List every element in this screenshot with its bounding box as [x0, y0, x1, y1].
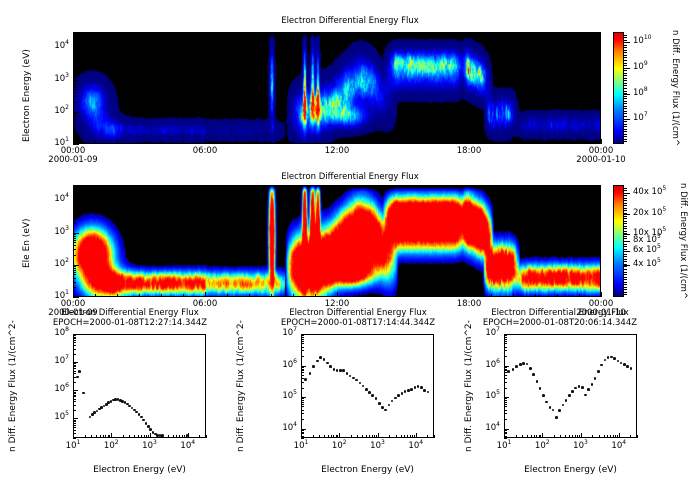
tick-minor: [73, 266, 76, 267]
tick-minor: [73, 191, 76, 192]
tick-label: 105: [33, 412, 69, 422]
data-point: [600, 364, 603, 367]
tick-minor: [73, 268, 76, 269]
data-point: [401, 392, 404, 395]
tick-major: [601, 292, 602, 297]
tick-minor: [366, 435, 367, 438]
tick-minor: [617, 435, 618, 438]
tick-minor: [624, 116, 627, 117]
data-point: [404, 390, 407, 393]
data-point: [604, 359, 607, 362]
data-point: [371, 394, 374, 397]
tick-minor: [535, 294, 536, 297]
tick-minor: [301, 375, 304, 376]
tick-minor: [73, 70, 76, 71]
tick-minor: [624, 68, 627, 69]
data-point: [326, 362, 329, 365]
tick-minor: [73, 49, 76, 50]
tick-minor: [301, 372, 304, 373]
data-point: [407, 389, 410, 392]
tick-minor: [624, 261, 627, 262]
data-point: [522, 362, 525, 365]
tick-major: [73, 433, 74, 438]
data-point: [352, 377, 355, 380]
tick-minor: [527, 435, 528, 438]
tick-minor: [73, 242, 76, 243]
tick-label: 18:00: [443, 146, 495, 156]
spectrum-1-title: Electron Differential Energy Flux: [30, 308, 230, 318]
tick-minor: [624, 63, 627, 64]
tick-minor: [148, 435, 149, 438]
tick-minor: [144, 435, 145, 438]
tick-minor: [624, 42, 627, 43]
colorbar-tick-label: 20x 105: [633, 208, 666, 218]
tick-minor: [301, 402, 304, 403]
tick-minor: [73, 363, 76, 364]
tick-minor: [624, 236, 627, 237]
colorbar-tick-label: 10x 105: [633, 228, 666, 238]
tick-minor: [73, 141, 74, 144]
tick-minor: [372, 435, 373, 438]
tick-date: 2000-01-10: [571, 155, 631, 165]
tick-minor: [624, 73, 627, 74]
tick-major: [601, 139, 602, 144]
tick-minor: [557, 141, 558, 144]
tick-minor: [504, 337, 507, 338]
data-point: [545, 401, 548, 404]
tick-minor: [414, 435, 415, 438]
middle-colorbar: [613, 185, 624, 297]
tick-minor: [117, 141, 118, 144]
tick-minor: [357, 435, 358, 438]
tick-minor: [624, 274, 627, 275]
tick-minor: [333, 435, 334, 438]
tick-minor: [403, 294, 404, 297]
tick-minor: [504, 367, 507, 368]
tick-minor: [73, 113, 76, 114]
tick-minor: [73, 255, 76, 256]
data-point: [630, 367, 633, 370]
tick-minor: [389, 435, 390, 438]
tick-major: [73, 144, 79, 145]
tick-minor: [579, 435, 580, 438]
data-point: [512, 368, 515, 371]
tick-minor: [554, 435, 555, 438]
tick-minor: [85, 435, 86, 438]
tick-major: [581, 433, 582, 438]
tick-minor: [624, 129, 627, 130]
tick-minor: [73, 87, 76, 88]
tick-date: 2000-01-09: [43, 155, 103, 165]
tick-minor: [624, 113, 627, 114]
tick-minor: [73, 282, 76, 283]
tick-minor: [301, 410, 304, 411]
tick-minor: [624, 221, 627, 222]
data-point: [610, 356, 613, 359]
data-point: [365, 388, 368, 391]
tick-minor: [624, 231, 627, 232]
tick-label: 102: [522, 441, 562, 451]
tick-minor: [301, 350, 304, 351]
data-point: [552, 409, 555, 412]
tick-minor: [301, 378, 304, 379]
data-point: [571, 390, 574, 393]
spectrum-1-y-label: n Diff. Energy Flux (1/(cm^2-: [8, 320, 18, 452]
data-point: [349, 375, 352, 378]
tick-label: 103: [31, 74, 69, 84]
tick-label: 104: [168, 441, 208, 451]
tick-minor: [73, 238, 76, 239]
tick-minor: [73, 52, 76, 53]
tick-minor: [624, 266, 627, 267]
tick-minor: [301, 413, 304, 414]
tick-minor: [249, 141, 250, 144]
tick-minor: [504, 430, 507, 431]
tick-minor: [624, 83, 627, 84]
tick-minor: [624, 216, 627, 217]
tick-minor: [624, 88, 627, 89]
tick-minor: [404, 435, 405, 438]
tick-minor: [572, 435, 573, 438]
tick-minor: [504, 406, 507, 407]
colorbar-tick-label: 109: [633, 62, 648, 72]
tick-minor: [624, 210, 627, 211]
tick-minor: [328, 435, 329, 438]
tick-minor: [637, 435, 638, 438]
tick-minor: [313, 435, 314, 438]
top-y-axis-label: Electron Energy (eV): [22, 49, 32, 142]
tick-label: 107: [33, 356, 69, 366]
colorbar-tick-label: 4x 105: [633, 259, 661, 269]
tick-minor: [369, 435, 370, 438]
data-point: [89, 416, 92, 419]
tick-minor: [73, 382, 76, 383]
tick-minor: [73, 38, 76, 39]
data-point: [591, 383, 594, 386]
tick-minor: [447, 141, 448, 144]
tick-minor: [491, 141, 492, 144]
tick-minor: [95, 294, 96, 297]
tick-minor: [336, 435, 337, 438]
tick-minor: [73, 50, 76, 51]
tick-minor: [522, 435, 523, 438]
tick-minor: [592, 435, 593, 438]
tick-minor: [301, 398, 304, 399]
tick-minor: [73, 410, 76, 411]
tick-minor: [624, 208, 627, 209]
data-point: [581, 386, 584, 389]
tick-minor: [407, 435, 408, 438]
tick-minor: [504, 343, 507, 344]
tick-minor: [504, 400, 507, 401]
tick-minor: [73, 366, 76, 367]
tick-minor: [293, 294, 294, 297]
tick-minor: [624, 287, 627, 288]
tick-minor: [199, 435, 200, 438]
tick-minor: [173, 435, 174, 438]
middle-spectrogram-plot[interactable]: [73, 185, 601, 297]
tick-major: [301, 433, 302, 438]
page-title: Electron Differential Energy Flux: [160, 16, 540, 26]
tick-label: 104: [261, 423, 297, 433]
tick-minor: [504, 335, 507, 336]
tick-minor: [624, 119, 627, 120]
tick-minor: [624, 80, 627, 81]
tick-label: 103: [358, 441, 398, 451]
tick-minor: [516, 435, 517, 438]
tick-minor: [624, 134, 627, 135]
tick-major: [542, 433, 543, 438]
tick-minor: [73, 340, 76, 341]
data-point: [368, 391, 371, 394]
tick-minor: [73, 395, 76, 396]
tick-minor: [359, 294, 360, 297]
data-point: [333, 368, 336, 371]
tick-minor: [315, 294, 316, 297]
tick-minor: [337, 141, 338, 144]
tick-label: 104: [464, 423, 500, 433]
tick-minor: [396, 435, 397, 438]
tick-minor: [624, 98, 627, 99]
data-point: [82, 392, 85, 395]
tick-minor: [73, 338, 76, 339]
data-point: [526, 363, 529, 366]
tick-label: 102: [319, 441, 359, 451]
tick-minor: [73, 294, 74, 297]
tick-minor: [73, 373, 76, 374]
tick-minor: [504, 341, 507, 342]
tick-minor: [108, 435, 109, 438]
tick-minor: [536, 435, 537, 438]
data-point: [607, 356, 610, 359]
tick-minor: [624, 91, 627, 92]
tick-minor: [624, 65, 627, 66]
tick-minor: [271, 294, 272, 297]
tick-minor: [434, 435, 435, 438]
tick-minor: [359, 141, 360, 144]
tick-minor: [301, 347, 304, 348]
tick-minor: [624, 223, 627, 224]
tick-minor: [73, 92, 76, 93]
tick-minor: [504, 370, 507, 371]
tick-minor: [504, 382, 507, 383]
tick-minor: [184, 435, 185, 438]
spectrum-3-title: Electron Differential Energy Flux: [460, 308, 660, 318]
data-point: [384, 409, 387, 412]
tick-minor: [534, 435, 535, 438]
tick-minor: [73, 393, 76, 394]
data-point: [410, 388, 413, 391]
spectrum-3-epoch: EPOCH=2000-01-08T20:06:14.344Z: [455, 318, 665, 328]
data-point: [417, 385, 420, 388]
tick-minor: [138, 435, 139, 438]
tick-minor: [73, 202, 76, 203]
data-point: [584, 394, 587, 397]
data-point: [549, 406, 552, 409]
data-point: [309, 372, 312, 375]
tick-label: 103: [130, 441, 170, 451]
tick-minor: [73, 427, 76, 428]
tick-minor: [624, 256, 627, 257]
tick-minor: [301, 343, 304, 344]
tick-minor: [624, 269, 627, 270]
top-spectrogram-plot[interactable]: [73, 32, 601, 144]
tick-minor: [624, 121, 627, 122]
tick-label: 104: [599, 441, 639, 451]
tick-minor: [301, 404, 304, 405]
tick-major: [378, 433, 379, 438]
tick-minor: [73, 245, 76, 246]
data-point: [532, 373, 535, 376]
tick-minor: [624, 75, 627, 76]
tick-minor: [73, 102, 76, 103]
tick-minor: [301, 369, 304, 370]
tick-minor: [624, 198, 627, 199]
tick-minor: [73, 117, 76, 118]
tick-minor: [95, 141, 96, 144]
tick-minor: [624, 277, 627, 278]
tick-minor: [73, 240, 76, 241]
tick-minor: [624, 106, 627, 107]
tick-minor: [183, 141, 184, 144]
tick-minor: [293, 141, 294, 144]
data-point: [336, 369, 339, 372]
tick-label: 101: [484, 441, 524, 451]
data-point: [319, 356, 322, 359]
data-point: [420, 386, 423, 389]
tick-minor: [624, 50, 627, 51]
tick-minor: [504, 350, 507, 351]
tick-minor: [504, 339, 507, 340]
spectrum-2-plot[interactable]: [301, 334, 434, 438]
tick-minor: [301, 419, 304, 420]
spectrogram-canvas-mid: [74, 186, 601, 297]
data-point: [329, 365, 332, 368]
tick-minor: [624, 139, 627, 140]
tick-minor: [73, 430, 76, 431]
tick-minor: [624, 111, 627, 112]
tick-minor: [624, 190, 627, 191]
tick-minor: [301, 370, 304, 371]
tick-minor: [73, 420, 76, 421]
tick-minor: [73, 213, 76, 214]
spectrum-2-y-label: n Diff. Energy Flux (1/(cm^2-: [236, 320, 246, 452]
middle-panel-title: Electron Differential Energy Flux: [160, 172, 540, 182]
tick-minor: [565, 435, 566, 438]
tick-minor: [624, 57, 627, 58]
tick-minor: [301, 388, 304, 389]
tick-minor: [139, 294, 140, 297]
tick-minor: [351, 435, 352, 438]
data-point: [397, 394, 400, 397]
data-point: [519, 363, 522, 366]
tick-minor: [624, 233, 627, 234]
tick-minor: [599, 435, 600, 438]
tick-minor: [73, 272, 76, 273]
tick-minor: [73, 185, 76, 186]
tick-minor: [624, 205, 627, 206]
tick-minor: [301, 337, 304, 338]
tick-minor: [73, 129, 76, 130]
spectrum-1-plot[interactable]: [73, 334, 206, 438]
tick-minor: [227, 141, 228, 144]
tick-minor: [624, 126, 627, 127]
tick-minor: [624, 37, 627, 38]
tick-minor: [315, 141, 316, 144]
tick-minor: [624, 131, 627, 132]
tick-minor: [73, 134, 76, 135]
colorbar-tick-label: 107: [633, 113, 648, 123]
tick-minor: [469, 294, 470, 297]
colorbar-tick-label: 1010: [633, 36, 651, 46]
tick-minor: [73, 278, 76, 279]
tick-minor: [539, 435, 540, 438]
tick-minor: [504, 410, 507, 411]
tick-minor: [73, 83, 76, 84]
tick-label: 06:00: [179, 146, 231, 156]
tick-minor: [504, 388, 507, 389]
tick-minor: [301, 406, 304, 407]
tick-minor: [624, 141, 627, 142]
data-point: [304, 378, 307, 381]
tick-minor: [73, 64, 76, 65]
tick-minor: [504, 402, 507, 403]
tick-minor: [73, 345, 76, 346]
tick-minor: [624, 289, 627, 290]
data-point: [414, 386, 417, 389]
data-point: [562, 404, 565, 407]
tick-major: [504, 433, 505, 438]
tick-label: 101: [281, 441, 321, 451]
tick-minor: [73, 119, 76, 120]
tick-minor: [504, 404, 507, 405]
spectrum-3-plot[interactable]: [504, 334, 637, 438]
tick-minor: [331, 435, 332, 438]
tick-minor: [624, 40, 627, 41]
tick-label: 104: [31, 194, 69, 204]
tick-minor: [624, 96, 627, 97]
tick-label: 103: [31, 227, 69, 237]
tick-minor: [100, 435, 101, 438]
tick-minor: [73, 121, 76, 122]
tick-minor: [425, 294, 426, 297]
tick-minor: [301, 430, 304, 431]
tick-minor: [610, 435, 611, 438]
colorbar-tick-label: 6x 105: [633, 245, 661, 255]
tick-minor: [319, 435, 320, 438]
tick-minor: [73, 337, 76, 338]
tick-minor: [73, 234, 76, 235]
tick-minor: [73, 399, 76, 400]
data-point: [142, 419, 145, 422]
tick-minor: [176, 435, 177, 438]
data-point: [359, 382, 362, 385]
data-point: [362, 385, 365, 388]
tick-minor: [513, 294, 514, 297]
data-point: [316, 360, 319, 363]
tick-minor: [139, 141, 140, 144]
tick-minor: [504, 356, 507, 357]
tick-major: [619, 433, 620, 438]
spectrum-2-title: Electron Differential Energy Flux: [258, 308, 458, 318]
tick-minor: [624, 218, 627, 219]
data-point: [542, 394, 545, 397]
tick-minor: [624, 45, 627, 46]
data-point: [565, 399, 568, 402]
tick-minor: [186, 435, 187, 438]
tick-minor: [504, 378, 507, 379]
tick-minor: [624, 292, 627, 293]
